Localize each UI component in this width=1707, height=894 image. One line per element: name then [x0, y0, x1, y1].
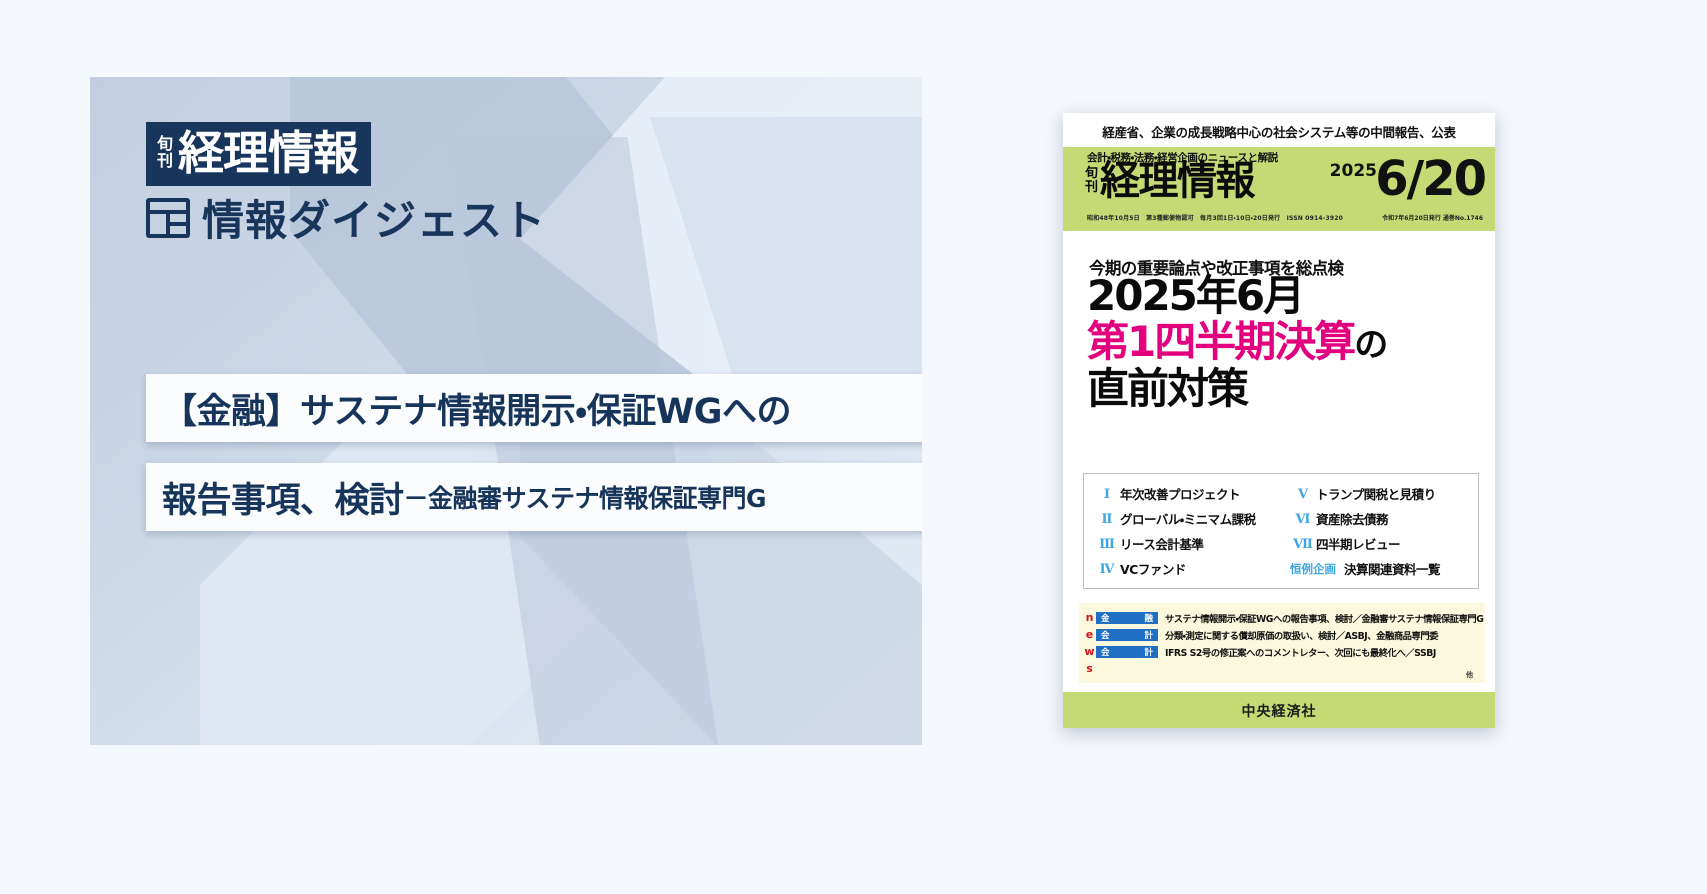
- news-letter: e: [1083, 628, 1096, 641]
- news-letter: n: [1083, 611, 1096, 624]
- toc-label: 資産除去債務: [1316, 509, 1388, 528]
- news-letter: s: [1083, 662, 1096, 675]
- toc-label: 年次改善プロジェクト: [1120, 484, 1240, 503]
- news-category-badge: 会 計: [1096, 646, 1158, 658]
- cover-logo-prefix-line1: 旬: [1085, 167, 1098, 181]
- news-row-trailing: s: [1083, 660, 1481, 677]
- masthead-prefix-line1: 旬: [157, 137, 173, 154]
- toc-label: 四半期レビュー: [1316, 534, 1400, 553]
- news-headline: サステナ情報開示・保証WGへの報告事項、検討／金融審サステナ情報保証専門G: [1165, 611, 1483, 625]
- headline-line-2-sub: －金融審サステナ情報保証専門G: [404, 479, 767, 515]
- toc-label: リース会計基準: [1120, 534, 1203, 553]
- cover-year: 2025: [1330, 161, 1377, 181]
- toc-row: Ⅲ リース会計基準 Ⅶ 四半期レビュー: [1094, 531, 1470, 556]
- toc-label: 決算関連資料一覧: [1344, 559, 1440, 578]
- headline-line-2-main: 報告事項、検討: [162, 472, 404, 523]
- news-badge-char-2: 融: [1144, 612, 1153, 624]
- headline-bar-secondary: 報告事項、検討－金融審サステナ情報保証専門G: [146, 463, 922, 531]
- cover-colophon: 昭和48年10月5日 第3種郵便物認可 毎月3回1日・10日・20日発行 ISS…: [1087, 213, 1343, 222]
- news-badge-char-1: 会: [1101, 629, 1110, 641]
- toc-row: Ⅰ 年次改善プロジェクト Ⅴ トランプ関税と見積り: [1094, 481, 1470, 506]
- headline-bar-primary: 【金融】サステナ情報開示・保証WGへの: [146, 374, 922, 442]
- toc-row: Ⅱ グローバル・ミニマム課税 Ⅵ 資産除去債務: [1094, 506, 1470, 531]
- toc-numeral: Ⅳ: [1094, 561, 1120, 577]
- slide-left-panel: 旬 刊 経理情報 情報ダイジェスト 【金融】サステナ情報開示・保証WGへの 報告…: [90, 77, 922, 745]
- toc-row: Ⅳ VCファンド 恒例企画 決算関連資料一覧: [1094, 556, 1470, 581]
- masthead-title: 経理情報: [178, 130, 358, 176]
- toc-numeral: Ⅵ: [1290, 511, 1316, 527]
- cover-logo-prefix: 旬 刊: [1085, 167, 1098, 195]
- masthead-prefix: 旬 刊: [157, 135, 173, 171]
- masthead-logo: 旬 刊 経理情報: [146, 122, 371, 186]
- news-row: n 金 融 サステナ情報開示・保証WGへの報告事項、検討／金融審サステナ情報保証…: [1083, 609, 1481, 626]
- publisher-name: 中央経済社: [1242, 701, 1317, 721]
- toc-label: トランプ関税と見積り: [1316, 484, 1436, 503]
- news-badge-char-1: 会: [1101, 646, 1110, 658]
- toc-entry: 恒例企画 決算関連資料一覧: [1290, 559, 1440, 578]
- cover-feature-highlight: 第1四半期決算: [1087, 317, 1354, 366]
- toc-label: グローバル・ミニマム課税: [1120, 509, 1256, 528]
- cover-logo-prefix-line2: 刊: [1085, 181, 1098, 195]
- toc-label: VCファンド: [1120, 559, 1186, 578]
- magazine-cover: 経産省、企業の成長戦略中心の社会システム等の中間報告、公表 会計・税務・法務・経…: [1063, 113, 1495, 728]
- cover-table-of-contents: Ⅰ 年次改善プロジェクト Ⅴ トランプ関税と見積り Ⅱ グローバル・ミニマム課税…: [1083, 473, 1479, 589]
- cover-masthead-band: 会計・税務・法務・経営企画のニュースと解説 旬 刊 経理情報 昭和48年10月5…: [1063, 147, 1495, 231]
- toc-numeral: Ⅲ: [1094, 536, 1120, 552]
- toc-entry: Ⅱ グローバル・ミニマム課税: [1094, 509, 1290, 528]
- toc-entry: Ⅲ リース会計基準: [1094, 534, 1290, 553]
- cover-footer-band: 中央経済社: [1063, 692, 1495, 728]
- cover-top-strap: 経産省、企業の成長戦略中心の社会システム等の中間報告、公表: [1063, 113, 1495, 147]
- cover-feature-line-2-tail: の: [1354, 325, 1386, 365]
- toc-numeral: Ⅴ: [1290, 486, 1316, 502]
- toc-numeral: Ⅱ: [1094, 511, 1120, 527]
- cover-feature-line-2: 第1四半期決算の: [1087, 320, 1386, 364]
- news-row: w 会 計 IFRS S2号の修正案へのコメントレター、次回にも最終化へ／SSB…: [1083, 643, 1481, 660]
- news-headline: 分類・測定に関する償却原価の取扱い、検討／ASBJ、金融商品専門委: [1165, 628, 1438, 642]
- toc-entry: Ⅵ 資産除去債務: [1290, 509, 1388, 528]
- masthead-prefix-line2: 刊: [157, 154, 173, 171]
- news-row: e 会 計 分類・測定に関する償却原価の取扱い、検討／ASBJ、金融商品専門委: [1083, 626, 1481, 643]
- news-etc-label: 他: [1466, 670, 1473, 680]
- cover-logo: 旬 刊 経理情報: [1085, 162, 1254, 200]
- news-headline: IFRS S2号の修正案へのコメントレター、次回にも最終化へ／SSBJ: [1165, 645, 1436, 659]
- toc-entry: Ⅴ トランプ関税と見積り: [1290, 484, 1436, 503]
- cover-feature-line-3: 直前対策: [1087, 367, 1247, 411]
- cover-news-band: n 金 融 サステナ情報開示・保証WGへの報告事項、検討／金融審サステナ情報保証…: [1079, 603, 1485, 683]
- toc-numeral: Ⅰ: [1094, 486, 1120, 502]
- cover-publication-date: 令和7年6月20日発行 通巻No.1746: [1382, 213, 1483, 222]
- news-category-badge: 会 計: [1096, 629, 1158, 641]
- toc-numeral-label: 恒例企画: [1290, 561, 1344, 577]
- masthead-box: 旬 刊 経理情報: [146, 122, 371, 186]
- cover-body: 今期の重要論点や改正事項を総点検 2025年6月 第1四半期決算の 直前対策 Ⅰ…: [1063, 231, 1495, 728]
- news-letter: w: [1083, 645, 1096, 658]
- toc-entry: Ⅶ 四半期レビュー: [1290, 534, 1400, 553]
- cover-issue-number: 6/20: [1375, 155, 1485, 203]
- cover-logo-title: 経理情報: [1100, 162, 1254, 200]
- headline-line-1: 【金融】サステナ情報開示・保証WGへの: [162, 383, 791, 434]
- digest-heading: 情報ダイジェスト: [146, 187, 546, 248]
- calendar-grid-icon: [146, 198, 190, 238]
- news-badge-char-2: 計: [1144, 629, 1153, 641]
- cover-feature-line-1: 2025年6月: [1087, 274, 1303, 318]
- digest-label: 情報ダイジェスト: [202, 187, 546, 248]
- news-category-badge: 金 融: [1096, 612, 1158, 624]
- toc-numeral: Ⅶ: [1290, 536, 1316, 552]
- toc-entry: Ⅳ VCファンド: [1094, 559, 1290, 578]
- news-badge-char-1: 金: [1101, 612, 1110, 624]
- toc-entry: Ⅰ 年次改善プロジェクト: [1094, 484, 1290, 503]
- news-badge-char-2: 計: [1144, 646, 1153, 658]
